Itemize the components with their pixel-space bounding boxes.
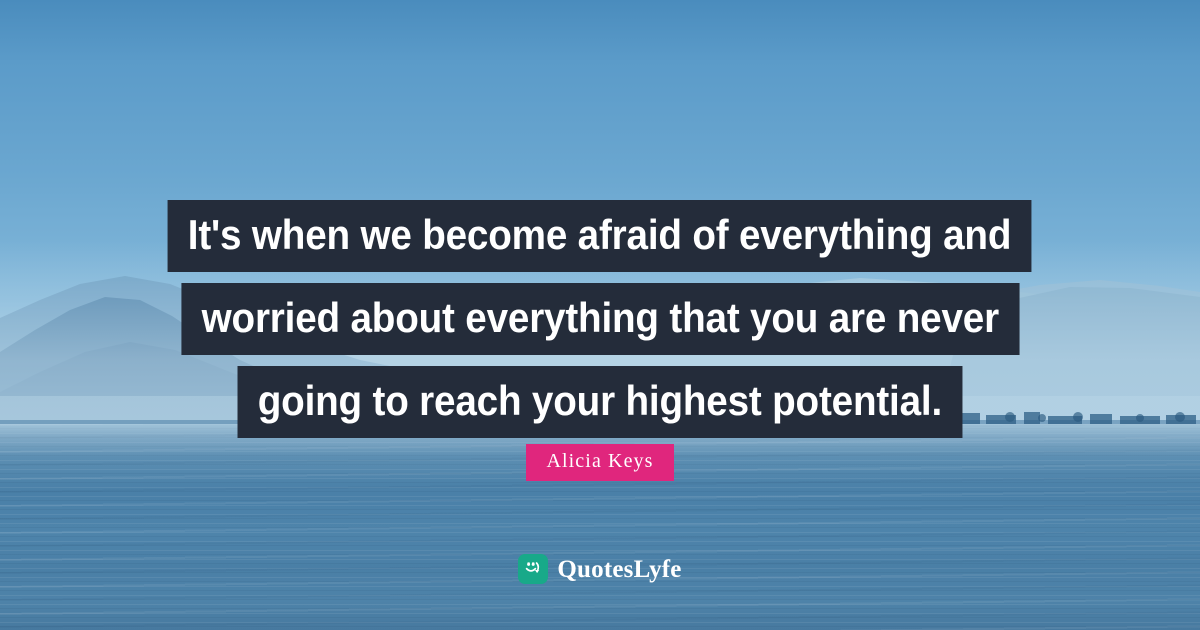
quote-line-2: worried about everything that you are ne…: [181, 283, 1019, 355]
quote-text-block: It's when we become afraid of everything…: [0, 200, 1200, 438]
quote-smiley-icon: [518, 554, 548, 584]
author-attribution: Alicia Keys: [0, 444, 1200, 481]
quote-line-1: It's when we become afraid of everything…: [168, 200, 1032, 272]
quoteslyfe-logo[interactable]: QuotesLyfe: [0, 554, 1200, 584]
quoteslyfe-wordmark: QuotesLyfe: [557, 557, 681, 582]
author-name-badge: Alicia Keys: [526, 444, 673, 481]
quote-card: It's when we become afraid of everything…: [0, 0, 1200, 630]
quote-line-3: going to reach your highest potential.: [238, 366, 963, 438]
